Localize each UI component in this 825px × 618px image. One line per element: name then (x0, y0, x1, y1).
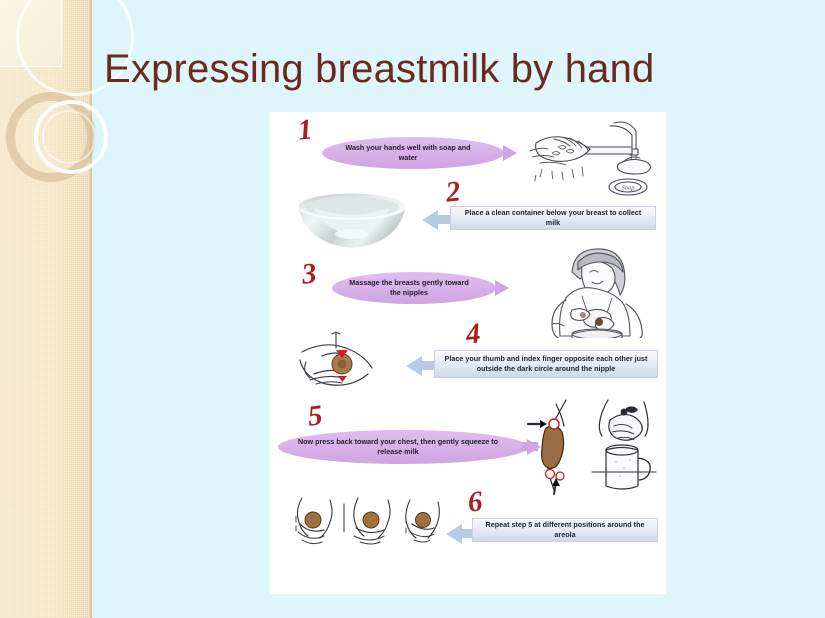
step-4-illustration (292, 330, 386, 392)
step-6-callout: Repeat step 5 at different positions aro… (472, 518, 658, 542)
arrow-right-icon (495, 280, 509, 296)
step-number-6: 6 (467, 487, 484, 517)
page-title: Expressing breastmilk by hand (104, 44, 804, 94)
step-5-text: Now press back toward your chest, then g… (294, 437, 502, 457)
step-2-text: Place a clean container below your breas… (457, 208, 649, 228)
step-3-callout: Massage the breasts gently toward the ni… (332, 272, 496, 304)
step-1-callout: Wash your hands well with soap and water (322, 137, 504, 169)
step-number-2: 2 (445, 177, 462, 207)
infographic-panel: 1 Wash your hands well with soap and wat… (270, 112, 666, 594)
step-6-illustration (286, 494, 444, 556)
step-3-text: Massage the breasts gently toward the ni… (348, 278, 470, 298)
step-number-3: 3 (301, 259, 318, 289)
slide: Expressing breastmilk by hand 1 Wash you… (0, 0, 825, 618)
step-3-illustration (542, 246, 652, 338)
decorative-ring-icon (42, 110, 96, 164)
step-1-illustration: Soap (502, 117, 662, 197)
step-number-1: 1 (297, 115, 314, 145)
step-2-callout: Place a clean container below your breas… (450, 206, 656, 230)
step-2-illustration (292, 190, 412, 252)
step-5-callout: Now press back toward your chest, then g… (278, 430, 528, 464)
soap-label: Soap (622, 185, 636, 192)
step-5-illustration (526, 398, 660, 498)
decorative-left-band (0, 0, 92, 618)
step-number-4: 4 (465, 319, 482, 349)
step-6-text: Repeat step 5 at different positions aro… (479, 520, 651, 540)
step-1-text: Wash your hands well with soap and water (338, 143, 478, 163)
step-number-5: 5 (307, 401, 324, 431)
step-4-callout: Place your thumb and index finger opposi… (434, 350, 658, 378)
step-4-text: Place your thumb and index finger opposi… (441, 354, 651, 374)
